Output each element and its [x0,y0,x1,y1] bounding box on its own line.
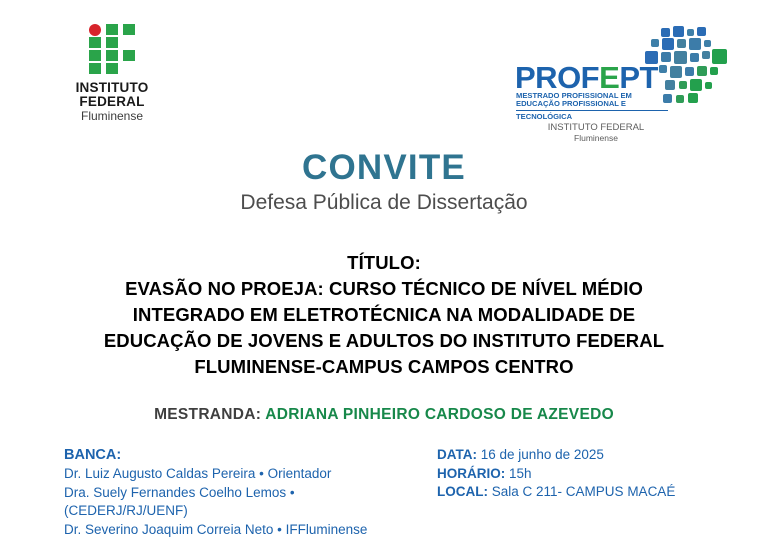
event-place-row: LOCAL: Sala C 211- CAMPUS MACAÉ [437,483,747,502]
event-place-label: LOCAL: [437,484,488,499]
profept-word-part1: PROF [515,60,599,95]
if-logo-dot [89,24,101,36]
invite-heading: CONVITE Defesa Pública de Dissertação [0,148,768,217]
thesis-line-1: EVASÃO NO PROEJA: CURSO TÉCNICO DE NÍVEL… [56,276,712,302]
footer-info: BANCA: Dr. Luiz Augusto Caldas Pereira •… [0,446,768,556]
candidate-label: MESTRANDA: [154,406,261,423]
event-time-label: HORÁRIO: [437,466,505,481]
thesis-line-2: INTEGRADO EM ELETROTÉCNICA NA MODALIDADE… [56,302,712,328]
if-logo-name-line2: FEDERAL [52,95,172,109]
page-title: CONVITE [0,148,768,188]
if-logo-cell [106,37,118,48]
profept-logo: PROFEPT MESTRADO PROFISSIONAL EM EDUCAÇÃ… [512,26,727,138]
if-logo-cell [89,50,101,61]
if-logo-cell [123,24,135,35]
event-date-row: DATA: 16 de junho de 2025 [437,446,747,465]
if-logo-cell [89,63,101,74]
if-logo-cell [106,24,118,35]
if-logo-name-line1: INSTITUTO [52,81,172,95]
thesis-line-3: EDUCAÇÃO DE JOVENS E ADULTOS DO INSTITUT… [56,328,712,354]
profept-tagline-line3: TECNOLÓGICA [516,112,572,121]
profept-campus: Fluminense [516,133,676,143]
event-place-value: Sala C 211- CAMPUS MACAÉ [492,484,676,499]
thesis-line-4: FLUMINENSE-CAMPUS CAMPOS CENTRO [56,354,712,380]
committee-member: Dr. Severino Joaquim Correia Neto • IFFl… [64,521,424,540]
thesis-label: TÍTULO: [56,250,712,276]
committee-heading: BANCA: [64,446,424,465]
if-logo-cell [106,63,118,74]
if-logo-campus: Fluminense [52,109,172,124]
header-logos: INSTITUTO FEDERAL Fluminense [0,0,768,140]
profept-tagline: MESTRADO PROFISSIONAL EM EDUCAÇÃO PROFIS… [516,92,668,109]
page-subtitle: Defesa Pública de Dissertação [0,189,768,217]
profept-word-part2: E [599,60,619,95]
profept-institution: INSTITUTO FEDERAL [516,122,676,133]
thesis-title-block: TÍTULO: EVASÃO NO PROEJA: CURSO TÉCNICO … [0,250,768,380]
candidate-row: MESTRANDA: ADRIANA PINHEIRO CARDOSO DE A… [0,406,768,424]
event-date-label: DATA: [437,447,477,462]
candidate-name: ADRIANA PINHEIRO CARDOSO DE AZEVEDO [265,406,614,423]
event-time-row: HORÁRIO: 15h [437,465,747,484]
profept-tagline-line2: EDUCAÇÃO PROFISSIONAL E [516,100,668,108]
committee-block: BANCA: Dr. Luiz Augusto Caldas Pereira •… [64,446,424,539]
event-time-value: 15h [509,466,532,481]
if-logo-cell [123,50,135,61]
profept-wordmark: PROFEPT [515,62,658,93]
event-date-value: 16 de junho de 2025 [481,447,604,462]
profept-word-part3: PT [619,60,658,95]
committee-member: Dr. Luiz Augusto Caldas Pereira • Orient… [64,465,424,484]
if-logo-cell [89,37,101,48]
committee-member: (CEDERJ/RJ/UENF) [64,502,424,521]
event-details-block: DATA: 16 de junho de 2025 HORÁRIO: 15h L… [437,446,747,502]
if-logo-cell [106,50,118,61]
if-logo-mark-icon [89,24,135,74]
committee-member: Dra. Suely Fernandes Coelho Lemos • [64,484,424,503]
instituto-federal-logo: INSTITUTO FEDERAL Fluminense [52,24,172,124]
